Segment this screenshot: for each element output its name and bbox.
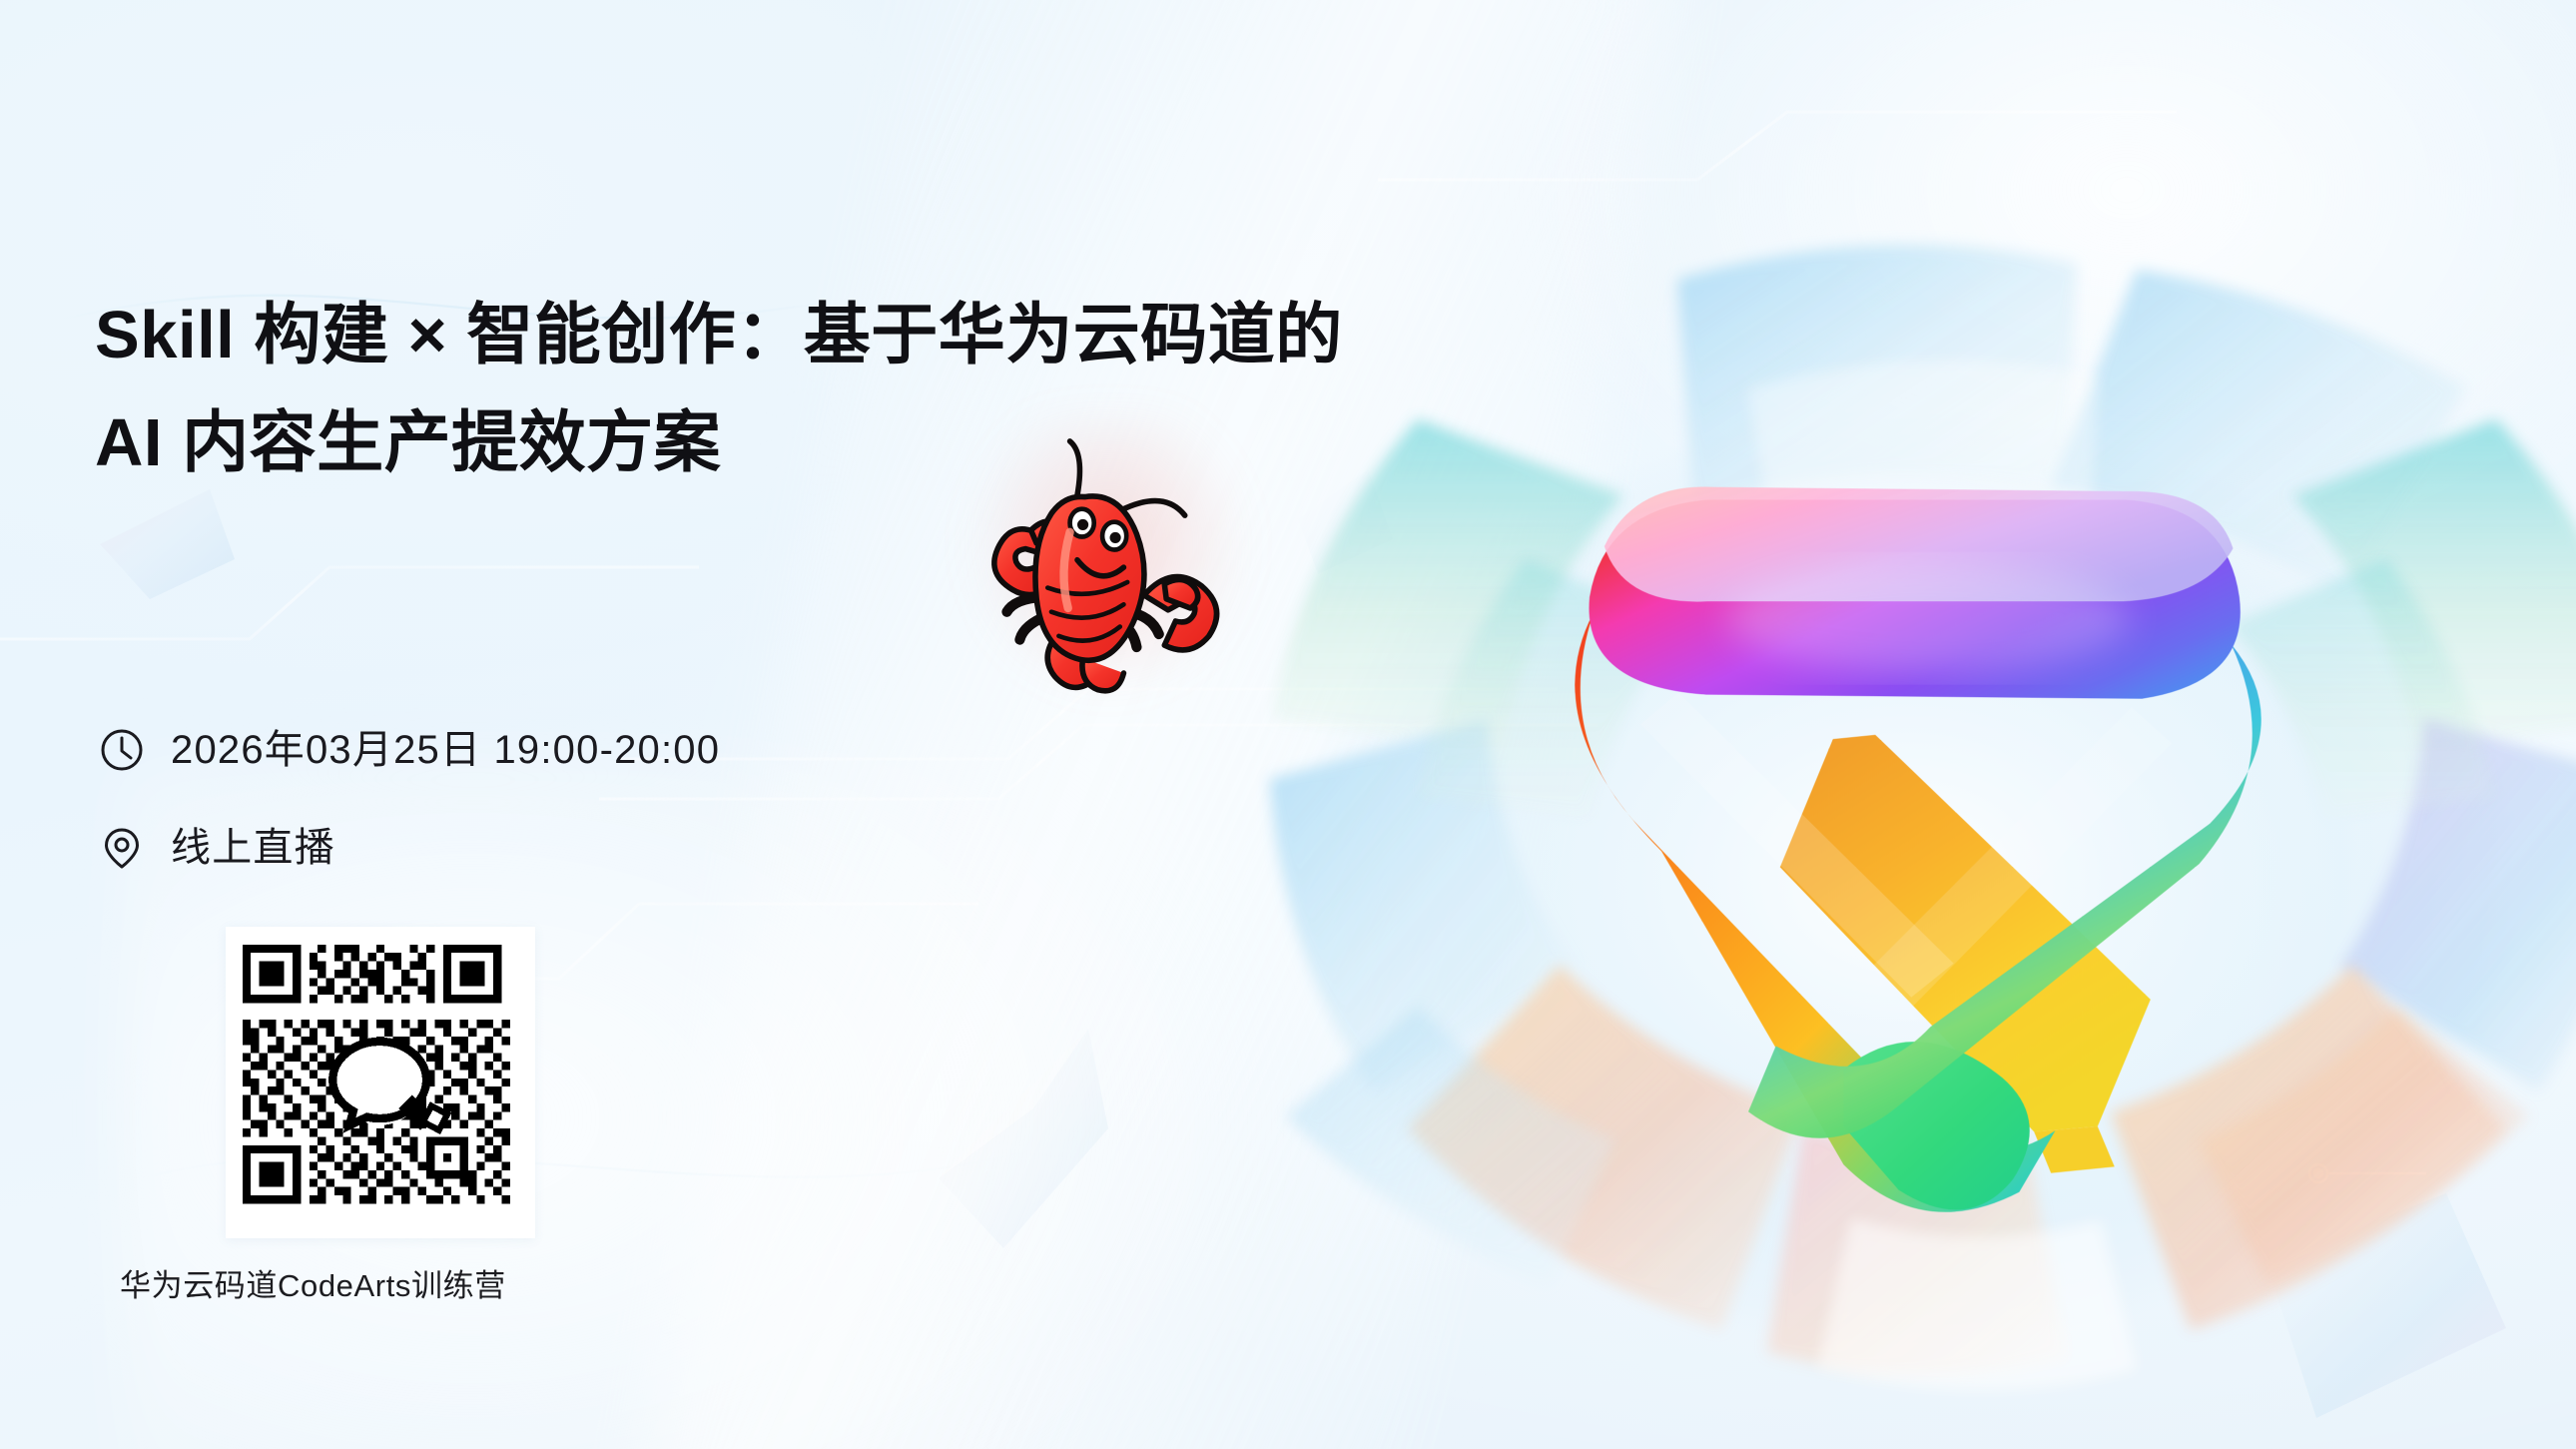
rainbow-ribbon-logo-icon xyxy=(1208,90,2576,1418)
page-title: Skill 构建 × 智能创作：基于华为云码道的 AI 内容生产提效方案 xyxy=(95,282,1253,497)
qr-code-icon xyxy=(226,927,535,1238)
title-line-2: AI 内容生产提效方案 xyxy=(95,389,1253,497)
clock-icon xyxy=(99,727,145,773)
title-line-1: Skill 构建 × 智能创作：基于华为云码道的 xyxy=(95,282,1253,389)
qr-code[interactable] xyxy=(226,927,535,1238)
event-time-row: 2026年03月25日 19:00-20:00 xyxy=(99,727,1097,773)
hero-artwork xyxy=(1208,90,2576,1418)
location-pin-icon xyxy=(99,825,145,871)
qr-caption: 华为云码道CodeArts训练营 xyxy=(120,1266,659,1306)
event-banner: Skill 构建 × 智能创作：基于华为云码道的 AI 内容生产提效方案 202… xyxy=(0,0,2576,1449)
event-time-text: 2026年03月25日 19:00-20:00 xyxy=(171,727,720,773)
event-location-row: 线上直播 xyxy=(99,825,1097,871)
event-location-text: 线上直播 xyxy=(171,825,335,871)
